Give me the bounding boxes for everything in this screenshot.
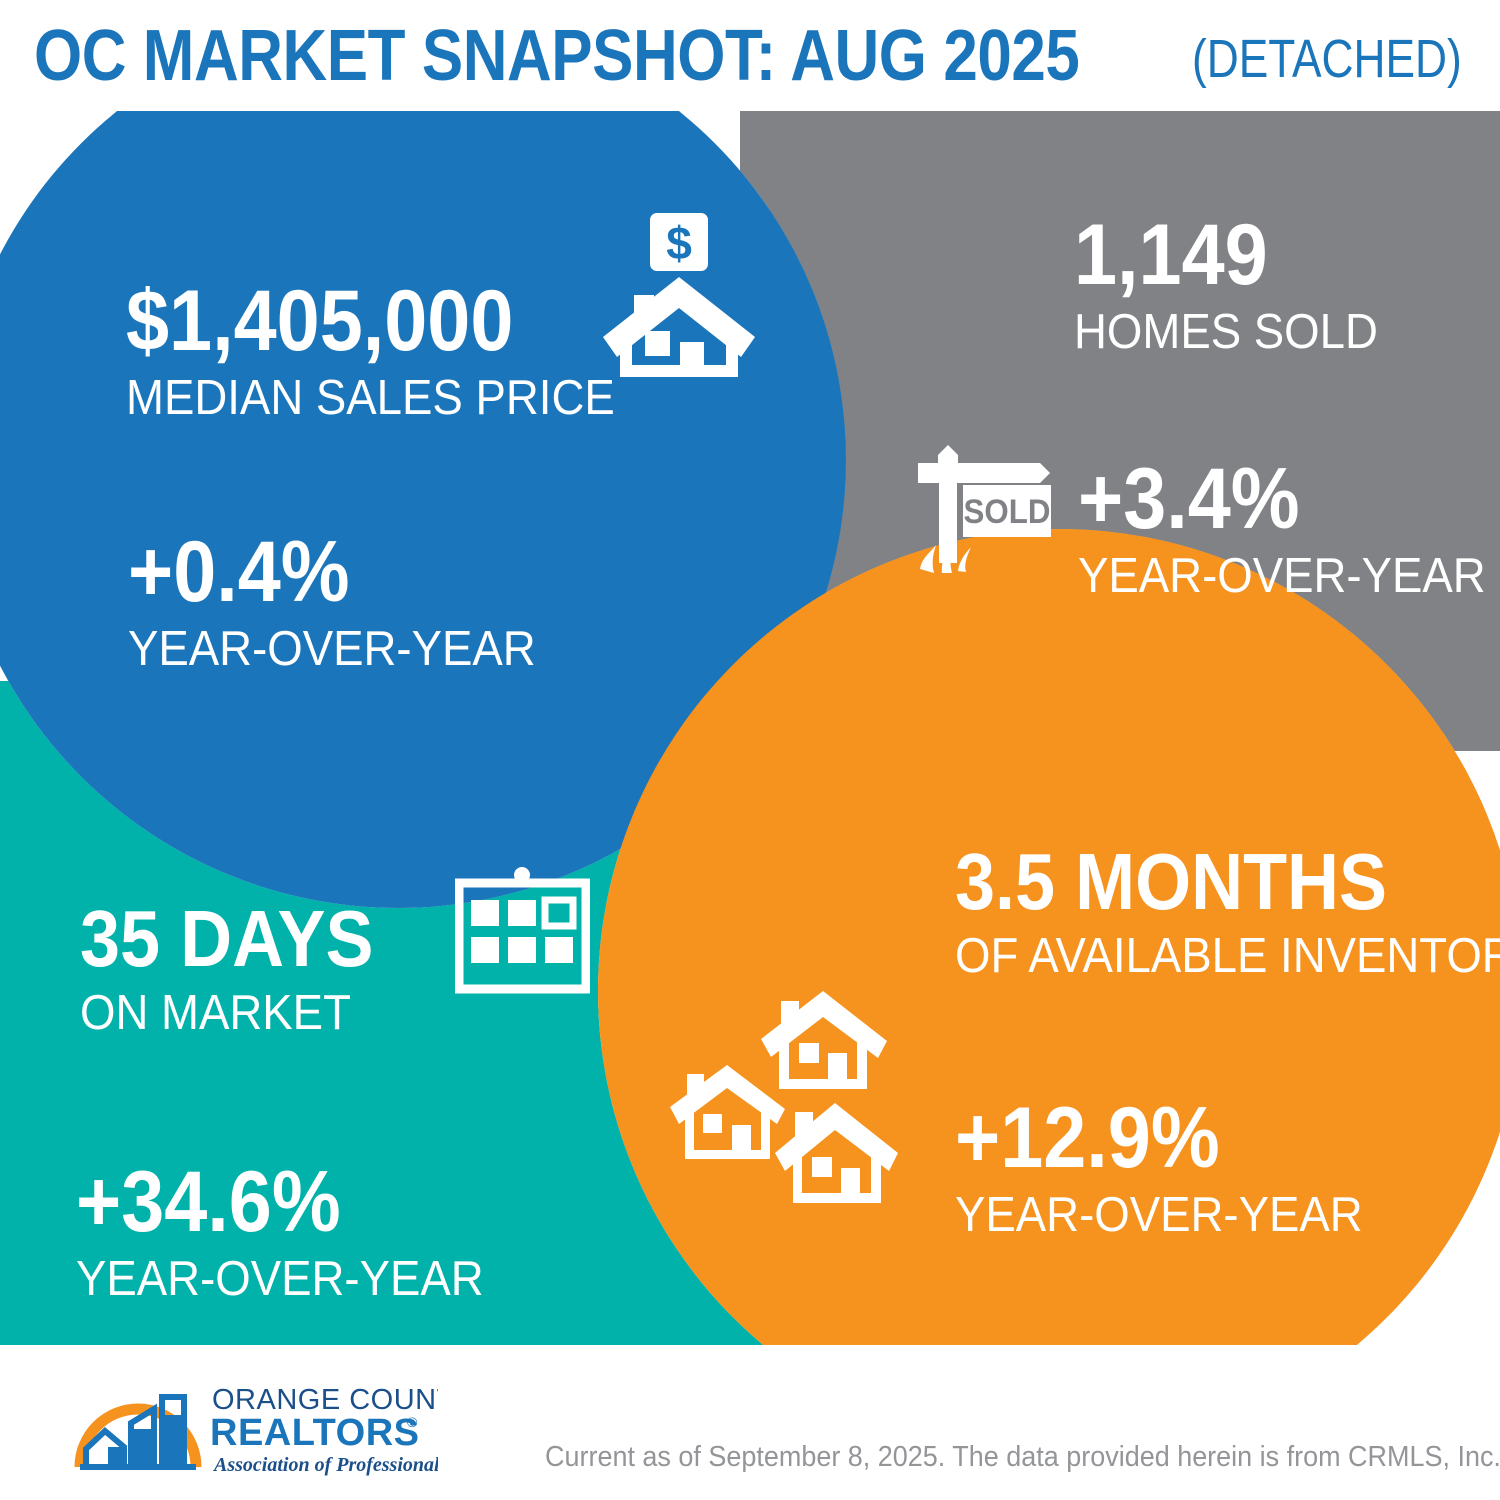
days-on-market-change-value: +34.6% — [76, 1160, 471, 1244]
logo-registered-mark: ® — [407, 1414, 418, 1430]
three-houses-icon — [645, 981, 945, 1231]
house-top-right — [761, 991, 887, 1089]
footer: ORANGE COUNTY REALTORS ® Association of … — [0, 1345, 1500, 1500]
logo-tagline: Association of Professionals — [212, 1454, 438, 1476]
homes-sold-change-label: YEAR-OVER-YEAR — [1078, 551, 1486, 602]
header: OC MARKET SNAPSHOT: AUG 2025 (DETACHED) — [0, 0, 1500, 111]
median-price-change-label: YEAR-OVER-YEAR — [128, 624, 536, 675]
homes-sold-value: 1,149 — [1074, 213, 1368, 297]
days-on-market-yoy: +34.6% YEAR-OVER-YEAR — [76, 1160, 514, 1306]
panels-canvas: $1,405,000 MEDIAN SALES PRICE +0.4% YEAR… — [0, 111, 1500, 1345]
inventory-value: 3.5 MONTHS — [955, 843, 1500, 921]
inventory-label: OF AVAILABLE INVENTORY — [955, 931, 1500, 982]
disclaimer-text: Current as of September 8, 2025. The dat… — [545, 1441, 1500, 1474]
svg-text:SOLD: SOLD — [964, 492, 1051, 531]
days-on-market-stat: 35 DAYS ON MARKET — [80, 900, 406, 1040]
svg-text:$: $ — [666, 217, 692, 269]
house-left — [670, 1065, 785, 1159]
inventory-change-value: +12.9% — [955, 1096, 1350, 1180]
inventory-change-label: YEAR-OVER-YEAR — [955, 1190, 1363, 1241]
days-on-market-change-label: YEAR-OVER-YEAR — [76, 1254, 484, 1305]
median-price-label: MEDIAN SALES PRICE — [126, 373, 615, 424]
median-price-yoy: +0.4% YEAR-OVER-YEAR — [128, 530, 566, 676]
infographic-root: OC MARKET SNAPSHOT: AUG 2025 (DETACHED) — [0, 0, 1500, 1500]
days-on-market-value: 35 DAYS — [80, 900, 374, 978]
logo-line2: REALTORS — [210, 1412, 420, 1454]
inventory-stat: 3.5 MONTHS OF AVAILABLE INVENTORY — [955, 843, 1500, 983]
page-title-qualifier: (DETACHED) — [1192, 32, 1462, 86]
sold-sign-icon: SOLD — [908, 441, 1068, 601]
days-on-market-label: ON MARKET — [80, 988, 383, 1039]
median-price-change-value: +0.4% — [128, 530, 523, 614]
homes-sold-stat: 1,149 HOMES SOLD — [1074, 213, 1401, 359]
homes-sold-yoy: +3.4% YEAR-OVER-YEAR — [1078, 457, 1500, 603]
orange-county-realtors-logo: ORANGE COUNTY REALTORS ® Association of … — [68, 1367, 438, 1482]
homes-sold-label: HOMES SOLD — [1074, 307, 1378, 358]
inventory-yoy: +12.9% YEAR-OVER-YEAR — [955, 1096, 1393, 1242]
median-price-stat: $1,405,000 MEDIAN SALES PRICE — [126, 279, 652, 425]
house-bottom-right — [775, 1103, 898, 1203]
house-with-dollar-sign-icon: $ — [600, 211, 760, 381]
median-price-value: $1,405,000 — [126, 279, 599, 363]
calendar-icon — [455, 867, 590, 1002]
homes-sold-change-value: +3.4% — [1078, 457, 1473, 541]
page-title: OC MARKET SNAPSHOT: AUG 2025 — [34, 20, 1079, 92]
